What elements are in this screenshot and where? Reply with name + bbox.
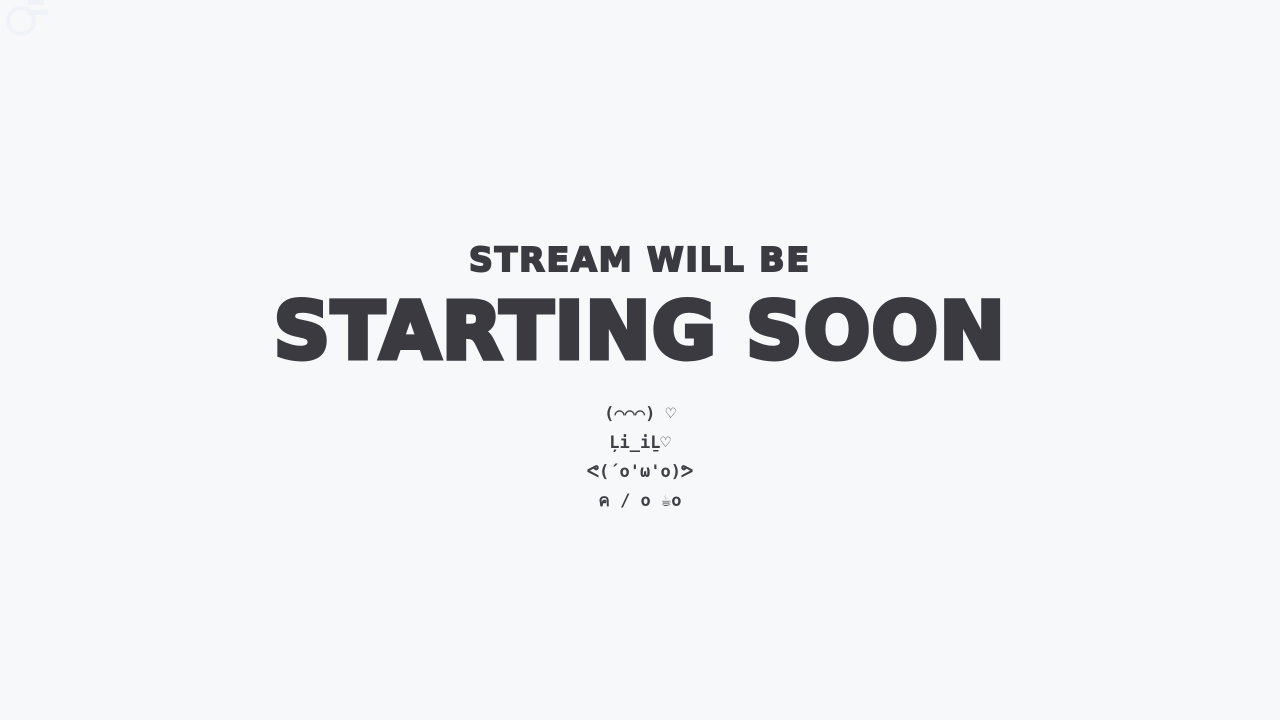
ascii-art-line-4: ค / o ☕o [598,487,681,516]
bear-with-coffee-ascii-art: (⌒⌒⌒) ♡ Ļi_iḺ♡ ᕙ(´o'ω'o)ᕗ ค / o ☕o [587,400,694,516]
subtitle-stream-will-be: STREAM WILL BE [469,243,811,276]
stream-starting-soon-screen: STREAM WILL BE STARTING SOON (⌒⌒⌒) ♡ Ļi_… [0,0,1280,720]
ascii-art-line-2: Ļi_iḺ♡ [609,429,670,458]
title-block: STREAM WILL BE STARTING SOON [274,243,1007,374]
ascii-art-line-3: ᕙ(´o'ω'o)ᕗ [587,458,694,487]
headline-starting-soon: STARTING SOON [274,292,1007,374]
content-stage: STREAM WILL BE STARTING SOON (⌒⌒⌒) ♡ Ļi_… [0,0,1280,720]
ascii-art-line-1: (⌒⌒⌒) ♡ [604,400,676,429]
